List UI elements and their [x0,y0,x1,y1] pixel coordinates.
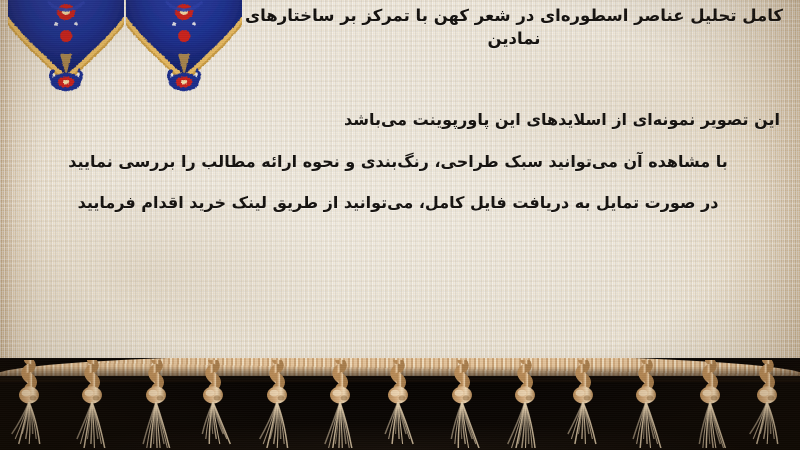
carpet-tassel [747,360,787,448]
slide-body: این تصویر نمونه‌ای از اسلایدهای این پاور… [16,108,780,215]
carpet-tassel [690,360,730,448]
carpet-tassel [378,360,418,448]
carpet-tassel [563,360,603,448]
carpet-tassel [505,360,545,448]
carpet-tassel [193,360,233,448]
carpet-tassel [320,360,360,448]
carpet-tassel [72,360,112,448]
carpet-tassel [136,360,176,448]
slide-title: کامل تحلیل عناصر اسطوره‌ای در شعر کهن با… [244,4,784,51]
carpet-medallion-group [0,0,250,100]
persian-medallion-icon-secondary [126,0,242,94]
carpet-tassel [626,360,666,448]
carpet-tassel [9,360,49,448]
carpet-tassel [442,360,482,448]
body-line-2: با مشاهده آن می‌توانید سبک طراحی، رنگ‌بن… [16,150,780,174]
slide-canvas: کامل تحلیل عناصر اسطوره‌ای در شعر کهن با… [0,0,800,450]
body-line-1: این تصویر نمونه‌ای از اسلایدهای این پاور… [16,108,780,132]
carpet-tassel [257,360,297,448]
carpet-fringe-band [0,358,800,450]
persian-medallion-icon [8,0,124,94]
body-line-3: در صورت تمایل به دریافت فایل کامل، می‌تو… [16,191,780,215]
